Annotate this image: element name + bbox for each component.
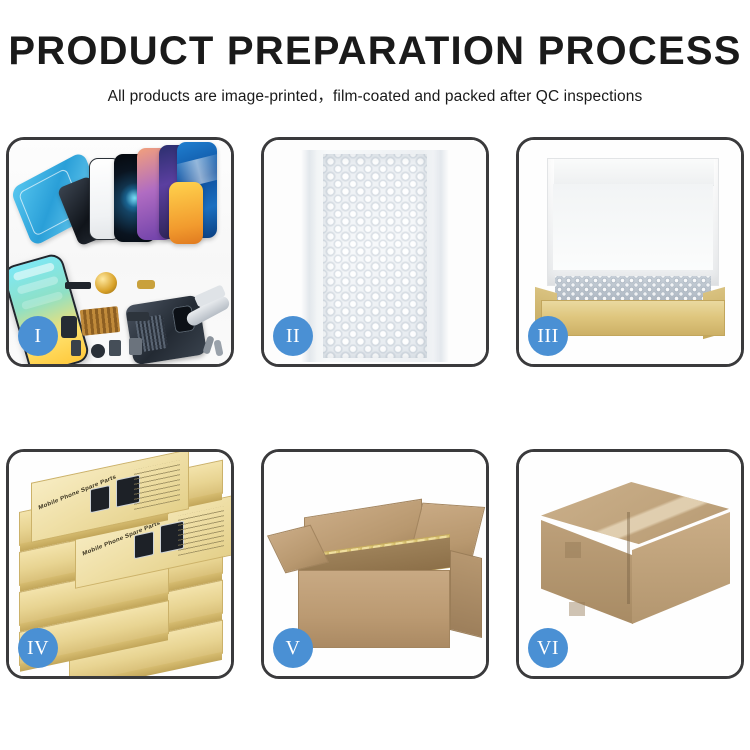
step-badge-2: II xyxy=(273,316,313,356)
printed-spec-lines-1 xyxy=(134,460,180,510)
chip-grid-icon xyxy=(80,306,121,336)
step-card-4: Mobile Phone Spare Parts Mobile Phone Sp… xyxy=(6,449,234,679)
step-card-6: VI xyxy=(516,449,744,679)
header: PRODUCT PREPARATION PROCESS All products… xyxy=(0,0,750,106)
phone-display-amber-icon xyxy=(169,182,203,244)
flex-cable-icon xyxy=(65,282,91,289)
screwdriver-icon xyxy=(213,339,223,356)
page-subtitle: All products are image-printed，film-coat… xyxy=(0,84,750,106)
product-preparation-infographic: PRODUCT PREPARATION PROCESS All products… xyxy=(0,0,750,750)
sim-tray-icon xyxy=(71,340,81,356)
step-badge-4: IV xyxy=(18,628,58,668)
gold-connector-icon xyxy=(137,280,155,289)
carton-mark-upper xyxy=(565,542,581,558)
process-steps-grid: I II xyxy=(6,137,744,679)
step-card-2: II xyxy=(261,137,489,367)
camera-module-icon xyxy=(61,316,77,338)
printed-spec-lines-2 xyxy=(178,506,224,556)
ribbon-cable-icon xyxy=(127,312,149,321)
step-badge-5: V xyxy=(273,628,313,668)
step-card-1: I xyxy=(6,137,234,367)
box-front-panel xyxy=(541,300,725,336)
step-badge-3: III xyxy=(528,316,568,356)
bubble-wrap-icon xyxy=(323,154,427,358)
step-badge-6: VI xyxy=(528,628,568,668)
page-title: PRODUCT PREPARATION PROCESS xyxy=(0,30,750,72)
carton-side-panel xyxy=(450,550,482,638)
step-card-3: III xyxy=(516,137,744,367)
step-card-5: V xyxy=(261,449,489,679)
carton-front-panel xyxy=(298,570,450,648)
battery-connector-icon xyxy=(129,338,142,355)
button-part-icon xyxy=(109,340,121,356)
carton-mark-lower xyxy=(569,602,585,616)
speaker-icon xyxy=(91,344,105,358)
step-badge-1: I xyxy=(18,316,58,356)
box-interior xyxy=(553,184,713,270)
vibrator-motor-icon xyxy=(95,272,117,294)
carton-corner-seam xyxy=(627,512,630,604)
